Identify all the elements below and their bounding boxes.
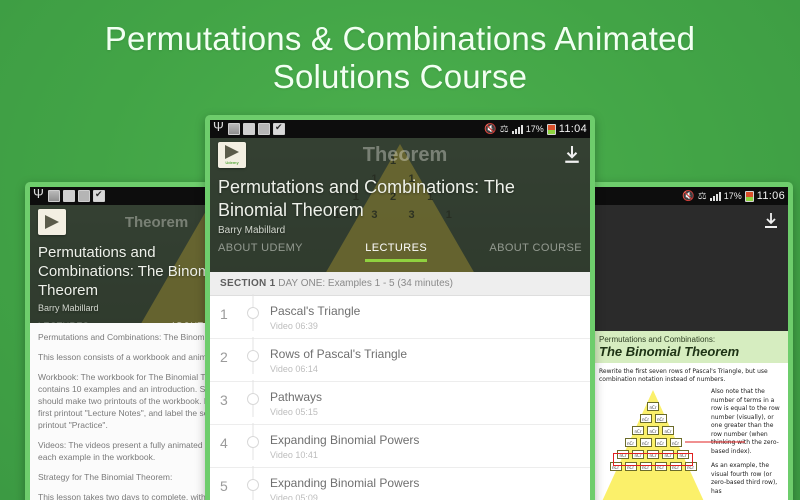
- status-bar-center-left-icons: [213, 123, 484, 135]
- tab-lectures[interactable]: LECTURES: [365, 242, 427, 262]
- worksheet-note-1: Also note that the number of terms in a …: [711, 388, 782, 456]
- lecture-meta: Video 06:39: [270, 321, 580, 331]
- worksheet-paper: Rewrite the first seven rows of Pascal's…: [593, 363, 788, 500]
- phone-right: 🔇 ⚖ 17% 11:06 Permutations and Combinati…: [588, 182, 793, 500]
- highlight-box: [613, 453, 693, 466]
- lecture-number: 5: [220, 476, 242, 494]
- lecture-title: Pascal's Triangle: [270, 304, 580, 319]
- lecture-row[interactable]: 1 Pascal's Triangle Video 06:39: [210, 296, 590, 339]
- pointer-arrow: [685, 441, 745, 443]
- lecture-title: Pathways: [270, 390, 580, 405]
- lecture-number: 2: [220, 347, 242, 365]
- battery-icon: [745, 191, 754, 202]
- lecture-status[interactable]: [242, 304, 264, 319]
- signal-bars-icon: [512, 124, 523, 134]
- signal-bars-icon: [710, 191, 721, 201]
- document-icon: [243, 123, 255, 135]
- lecture-status[interactable]: [242, 347, 264, 362]
- document-alt-icon: [258, 123, 270, 135]
- lecture-title: Expanding Binomial Powers: [270, 476, 580, 491]
- lecture-number: 1: [220, 304, 242, 322]
- document-alt-icon: [78, 190, 90, 202]
- image-icon: [228, 123, 240, 135]
- lecture-number: 3: [220, 390, 242, 408]
- section-header: SECTION 1 DAY ONE: Examples 1 - 5 (34 mi…: [210, 272, 590, 296]
- pascal-triangle-worksheet: nCr nCrnCr nCrnCrnCr nCrnCrnCrnCr nCrnCr…: [599, 388, 707, 500]
- worksheet-heading-line2: The Binomial Theorem: [599, 344, 782, 359]
- udemy-triangle-icon: [45, 215, 59, 229]
- status-bar-center: 🔇 ⚖ 17% 11:04: [210, 120, 590, 138]
- worksheet-note-2: As an example, the visual fourth row (or…: [711, 462, 782, 496]
- phone-right-screen: 🔇 ⚖ 17% 11:06 Permutations and Combinati…: [593, 187, 788, 500]
- udemy-logo-label: Udemy: [225, 160, 238, 165]
- lecture-row[interactable]: 4 Expanding Binomial Powers Video 10:41: [210, 425, 590, 468]
- lecture-list[interactable]: SECTION 1 DAY ONE: Examples 1 - 5 (34 mi…: [210, 272, 590, 500]
- section-title: DAY ONE: Examples 1 - 5 (34 minutes): [278, 278, 453, 289]
- udemy-logo[interactable]: Udemy: [218, 142, 246, 168]
- circle-icon: [247, 307, 259, 319]
- mute-icon: 🔇: [484, 124, 496, 135]
- phone-center-screen: 🔇 ⚖ 17% 11:04 1 1 1 1 2 1 1 3 3 1: [210, 120, 590, 500]
- checkbox-icon: [93, 190, 105, 202]
- circle-icon: [247, 436, 259, 448]
- vibrate-off-icon: ⚖: [500, 124, 509, 135]
- usb-icon: [213, 123, 225, 135]
- status-bar-center-right-icons: 🔇 ⚖ 17% 11:04: [484, 123, 587, 135]
- course-author-center: Barry Mabillard: [218, 225, 582, 236]
- document-icon: [63, 190, 75, 202]
- battery-percent-right: 17%: [724, 191, 742, 201]
- lecture-title: Rows of Pascal's Triangle: [270, 347, 580, 362]
- battery-icon: [547, 124, 556, 135]
- lecture-meta: Video 06:14: [270, 364, 580, 374]
- status-bar-right-icons: 🔇 ⚖ 17% 11:06: [682, 190, 785, 202]
- course-header-center: 1 1 1 1 2 1 1 3 3 1 Udemy Theorem: [210, 138, 590, 272]
- tab-about-course[interactable]: ABOUT COURSE: [489, 242, 582, 262]
- worksheet-heading-line1: Permutations and Combinations:: [599, 335, 782, 344]
- lecture-meta: Video 10:41: [270, 450, 580, 460]
- lecture-meta: Video 05:09: [270, 493, 580, 500]
- course-title-center: Permutations and Combinations: The Binom…: [218, 176, 582, 222]
- vibrate-off-icon: ⚖: [698, 191, 707, 202]
- worksheet-heading: Permutations and Combinations: The Binom…: [593, 331, 788, 363]
- udemy-triangle-icon: [225, 145, 239, 159]
- status-bar-right: 🔇 ⚖ 17% 11:06: [593, 187, 788, 205]
- page-title-line1: Permutations & Combinations Animated: [105, 20, 696, 57]
- page-title: Permutations & Combinations Animated Sol…: [0, 20, 800, 96]
- section-label: SECTION 1: [220, 278, 276, 289]
- download-icon-right[interactable]: [764, 213, 778, 234]
- mute-icon: 🔇: [682, 191, 694, 202]
- lecture-meta: Video 05:15: [270, 407, 580, 417]
- lecture-status[interactable]: [242, 476, 264, 491]
- usb-icon: [33, 190, 45, 202]
- video-area-right[interactable]: [593, 205, 788, 331]
- tab-lectures-left[interactable]: LECTURES: [38, 321, 89, 323]
- udemy-logo: [38, 209, 66, 235]
- clock-right: 11:06: [757, 190, 785, 202]
- circle-icon: [247, 350, 259, 362]
- phone-center: 🔇 ⚖ 17% 11:04 1 1 1 1 2 1 1 3 3 1: [205, 115, 595, 500]
- worksheet-instruction: Rewrite the first seven rows of Pascal's…: [599, 368, 782, 384]
- lecture-number: 4: [220, 433, 242, 451]
- tab-about-udemy[interactable]: ABOUT UDEMY: [218, 242, 303, 262]
- lecture-status[interactable]: [242, 433, 264, 448]
- header-watermark-center: Theorem: [252, 144, 558, 167]
- lecture-status[interactable]: [242, 390, 264, 405]
- image-icon: [48, 190, 60, 202]
- lecture-title: Expanding Binomial Powers: [270, 433, 580, 448]
- battery-percent-center: 17%: [526, 124, 544, 134]
- circle-icon: [247, 479, 259, 491]
- lecture-row[interactable]: 5 Expanding Binomial Powers Video 05:09: [210, 468, 590, 500]
- page-title-line2: Solutions Course: [0, 58, 800, 96]
- tab-bar-center: ABOUT UDEMY LECTURES ABOUT COURSE: [210, 236, 590, 262]
- checkbox-icon: [273, 123, 285, 135]
- download-icon-center[interactable]: [564, 146, 582, 164]
- lecture-row[interactable]: 2 Rows of Pascal's Triangle Video 06:14: [210, 339, 590, 382]
- lecture-row[interactable]: 3 Pathways Video 05:15: [210, 382, 590, 425]
- circle-icon: [247, 393, 259, 405]
- clock-center: 11:04: [559, 123, 587, 135]
